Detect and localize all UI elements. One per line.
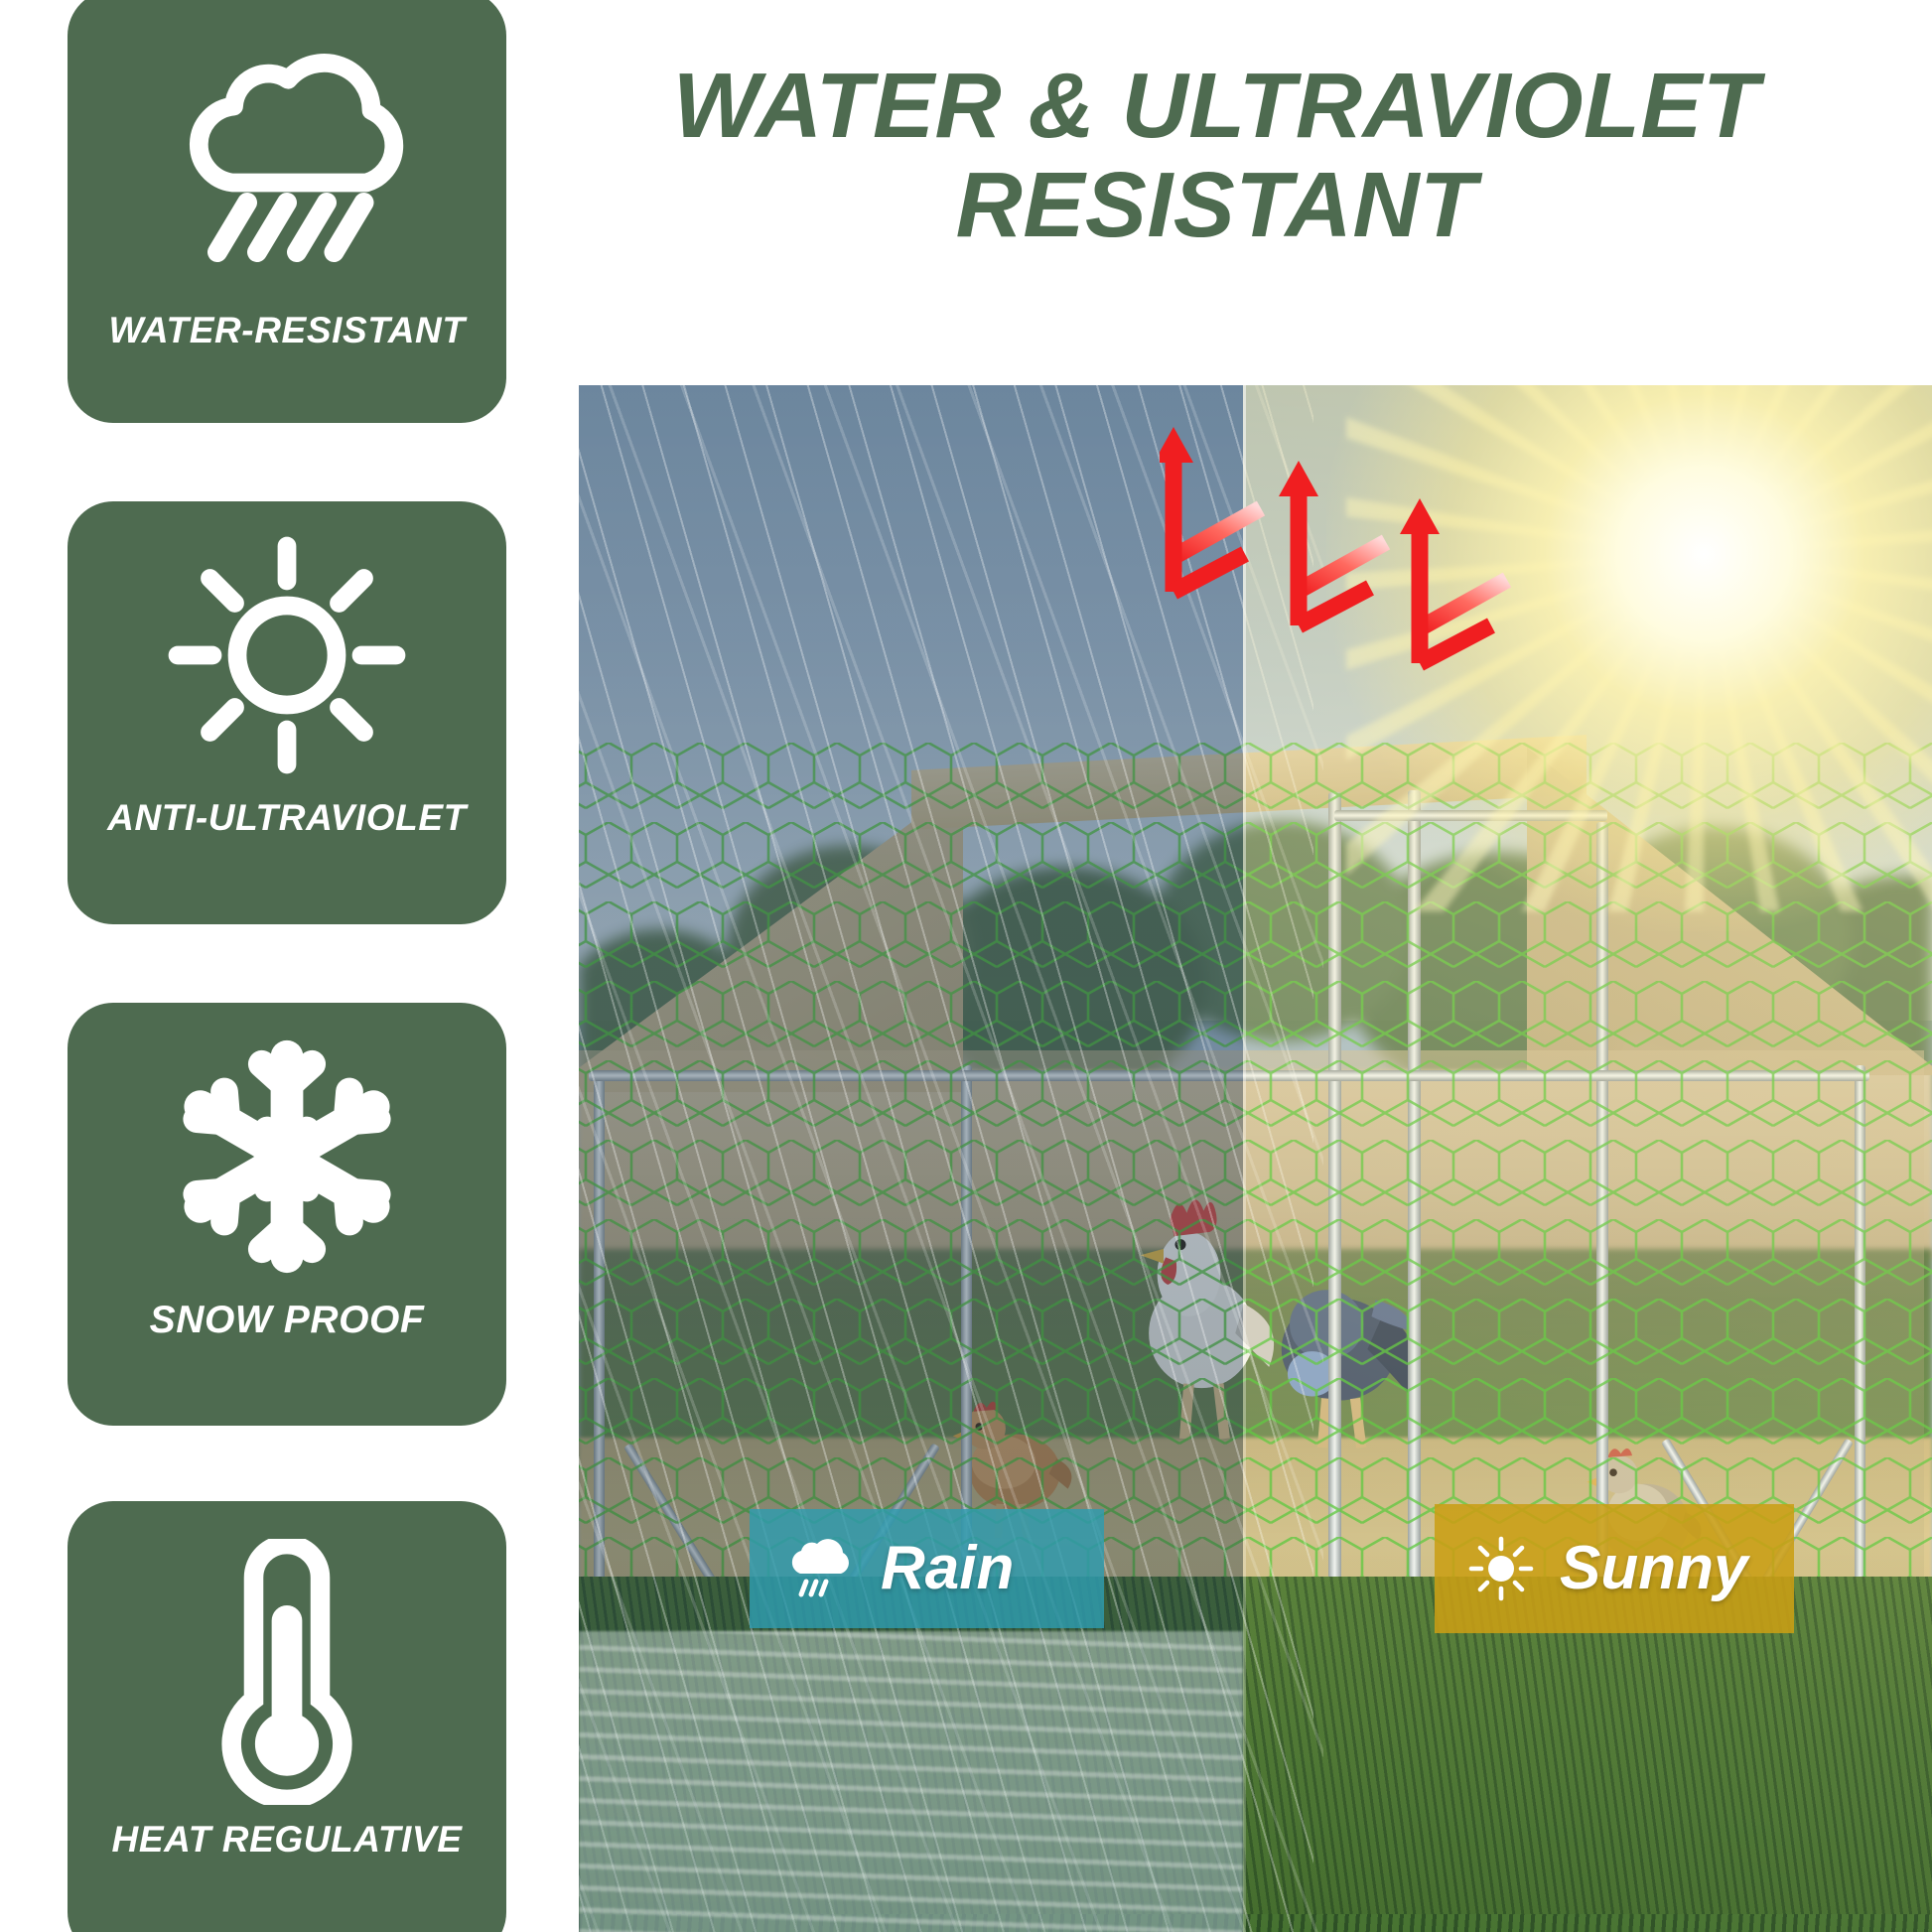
feature-badge-heat-regulative: HEAT REGULATIVE (68, 1501, 506, 1932)
feature-badge-water-resistant: WATER-RESISTANT (68, 0, 506, 423)
rain-cloud-icon (783, 1538, 855, 1599)
page-title-line-2: RESISTANT (526, 155, 1906, 254)
page-title: WATER & ULTRAVIOLET RESISTANT (526, 56, 1906, 255)
feature-badge-label: SNOW PROOF (150, 1301, 425, 1339)
feature-badge-snow-proof: SNOW PROOF (68, 1003, 506, 1426)
feature-badge-anti-ultraviolet: ANTI-ULTRAVIOLET (68, 501, 506, 924)
rain-cloud-icon (68, 0, 506, 312)
page-title-line-1: WATER & ULTRAVIOLET (526, 56, 1906, 155)
sun-icon (1468, 1536, 1534, 1601)
feature-badge-label: ANTI-ULTRAVIOLET (107, 799, 467, 836)
product-photo: Rain Sunny (579, 385, 1932, 1932)
uv-reflection-arrows-icon (1160, 415, 1587, 703)
weather-label-text: Sunny (1560, 1538, 1747, 1599)
sun-icon (68, 501, 506, 799)
feature-badge-label: HEAT REGULATIVE (112, 1821, 463, 1858)
feature-badge-column: WATER-RESISTANT (68, 0, 506, 1932)
feature-badge-label: WATER-RESISTANT (108, 312, 465, 348)
thermometer-icon (68, 1501, 506, 1821)
rain-puddle (579, 1631, 1243, 1932)
snowflake-icon (68, 1003, 506, 1301)
weather-label-text: Rain (881, 1538, 1014, 1599)
product-feature-banner: WATER-RESISTANT (0, 0, 1932, 1932)
weather-label-rain: Rain (750, 1509, 1104, 1628)
weather-label-sunny: Sunny (1435, 1504, 1794, 1633)
